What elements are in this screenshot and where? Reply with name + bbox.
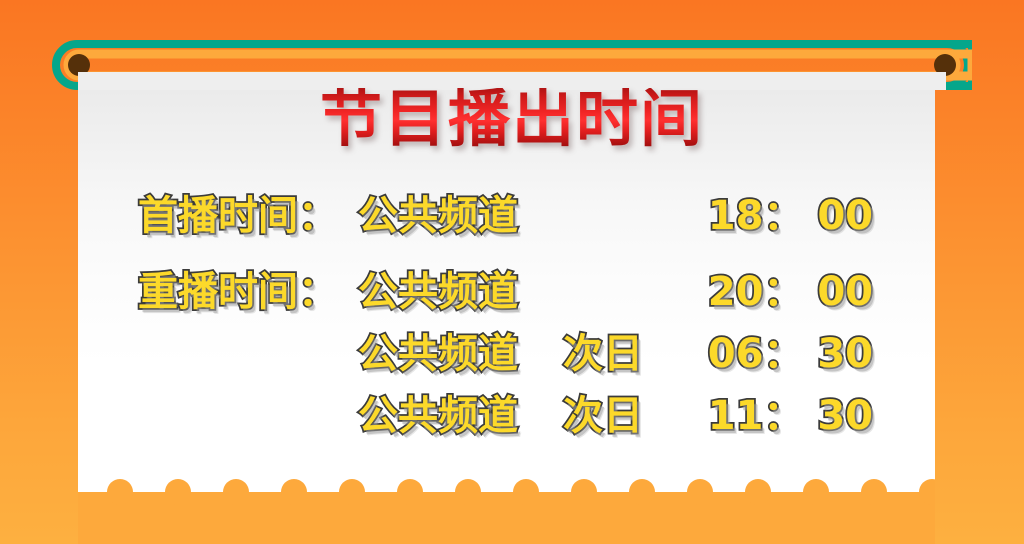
row-time: 20： 00	[683, 272, 873, 312]
bar-endcap-right-dot	[934, 54, 956, 76]
title-container: 节目播出时间	[0, 88, 1024, 150]
row-channel: 公共频道	[358, 396, 563, 436]
row-time: 11： 30	[683, 396, 873, 436]
row-day: 次日	[563, 334, 683, 374]
row-time: 18： 00	[683, 196, 873, 236]
bar-amber-stroke-right	[945, 54, 972, 76]
schedule-row-premiere: 首播时间： 公共频道 18： 00	[0, 196, 1024, 258]
row-label: 首播时间：	[138, 196, 358, 236]
schedule-row-rerun-3: 公共频道 次日 11： 30	[0, 396, 1024, 458]
row-channel: 公共频道	[358, 272, 563, 312]
row-time: 06： 30	[683, 334, 873, 374]
schedule-list: 首播时间： 公共频道 18： 00 重播时间： 公共频道 20： 00 公共频道…	[0, 196, 1024, 458]
row-channel: 公共频道	[358, 196, 563, 236]
page-title: 节目播出时间	[320, 88, 704, 150]
poster-canvas: 节目播出时间 首播时间： 公共频道 18： 00 重播时间： 公共频道 20： …	[0, 0, 1024, 544]
row-day: 次日	[563, 396, 683, 436]
row-channel: 公共频道	[358, 334, 563, 374]
row-label: 重播时间：	[138, 272, 358, 312]
bar-teal-stroke-right	[947, 44, 972, 86]
schedule-row-rerun-1: 重播时间： 公共频道 20： 00	[0, 272, 1024, 334]
schedule-row-rerun-2: 公共频道 次日 06： 30	[0, 334, 1024, 396]
